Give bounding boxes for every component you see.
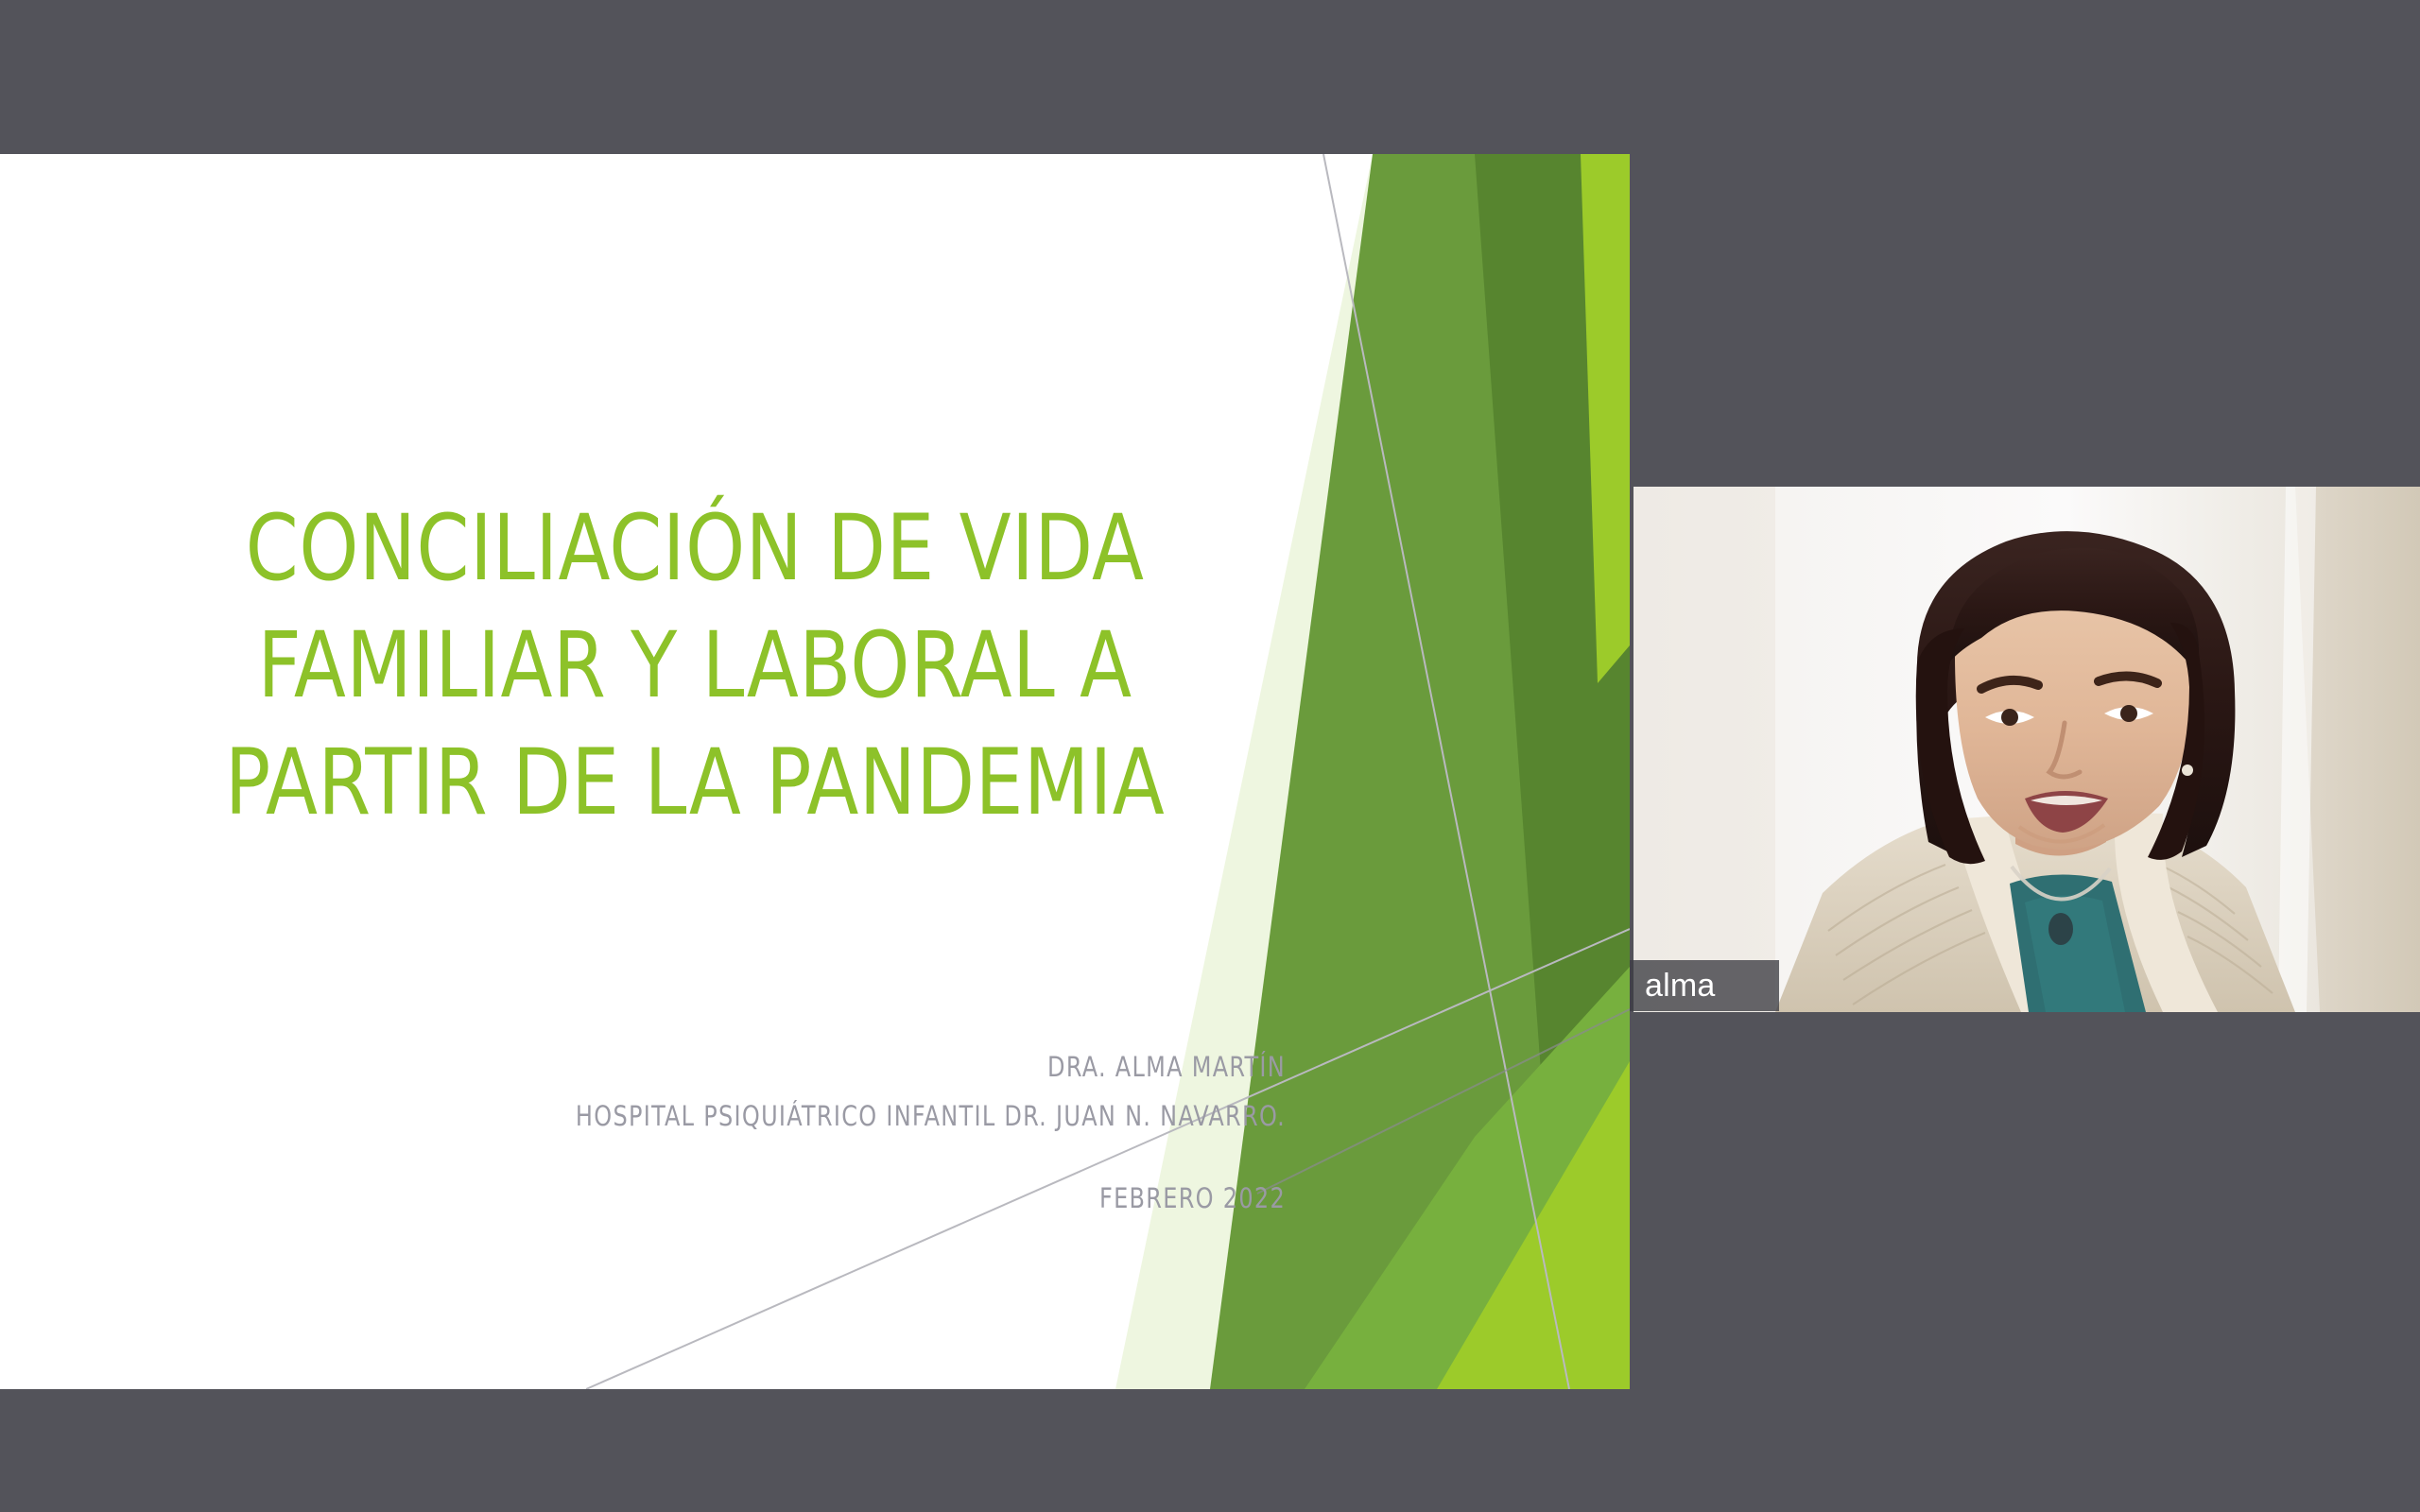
slide-title-line-1: CONCILIACIÓN DE VIDA (128, 490, 1262, 607)
shared-slide-surface[interactable]: CONCILIACIÓN DE VIDA FAMILIAR Y LABORAL … (0, 154, 1630, 1389)
slide-title: CONCILIACIÓN DE VIDA FAMILIAR Y LABORAL … (85, 490, 1305, 841)
slide-title-line-2: FAMILIAR Y LABORAL A (128, 607, 1262, 724)
participant-webcam-image (1633, 487, 2420, 1012)
slide-institution: HOSPITAL PSIQUIÁTRICO INFANTIL DR. JUAN … (364, 1091, 1286, 1141)
slide-title-line-3: PARTIR DE LA PANDEMIA (128, 724, 1262, 841)
slide-presenter-name: DRA. ALMA MARTÍN (364, 1042, 1286, 1091)
participant-video-tile[interactable] (1633, 487, 2420, 1012)
slide-date: FEBRERO 2022 (364, 1182, 1286, 1214)
slide-subtitle: DRA. ALMA MARTÍN HOSPITAL PSIQUIÁTRICO I… (284, 1042, 1286, 1141)
participant-name-label: alma (1645, 970, 1716, 1002)
participant-name-badge: alma (1630, 960, 1779, 1011)
